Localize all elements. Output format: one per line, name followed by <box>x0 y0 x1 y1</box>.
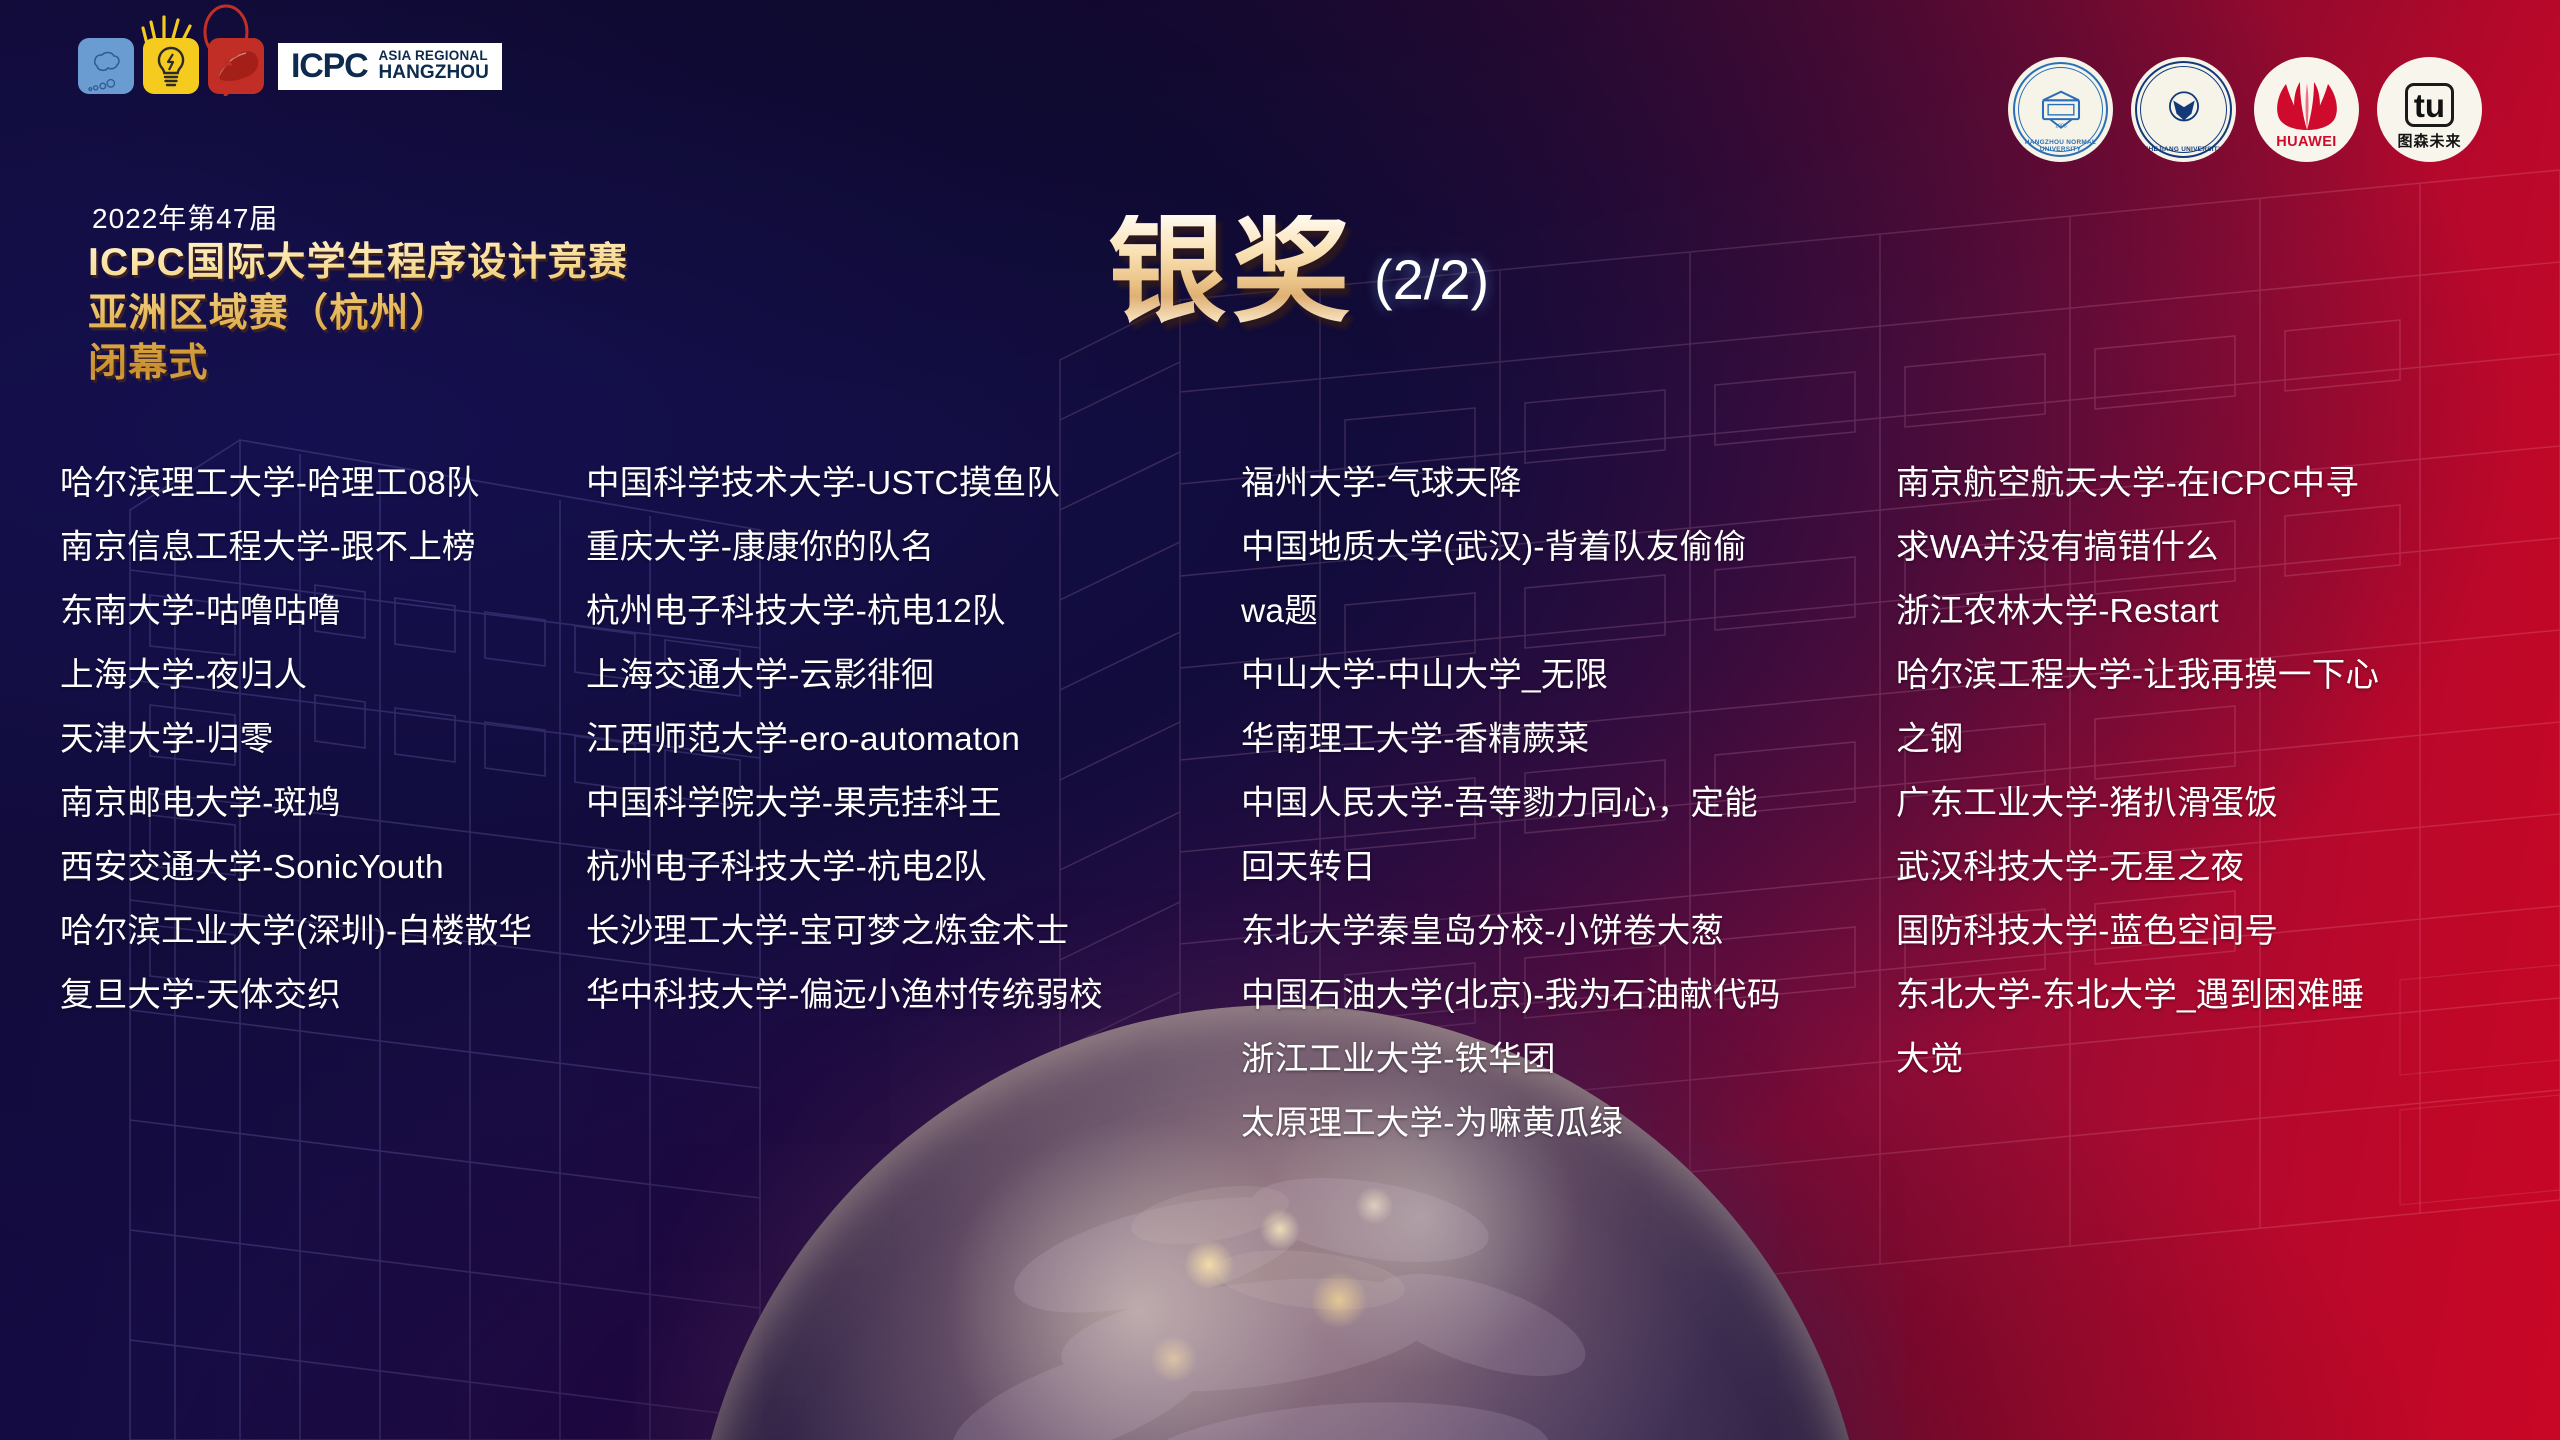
team-entry-wrap: 大觉 <box>1896 1028 2496 1092</box>
team-entry-wrap: 回天转日 <box>1241 836 1896 900</box>
team-entry: 复旦大学-天体交织 <box>60 964 586 1028</box>
icpc-wordmark: ICPC ASIA REGIONAL HANGZHOU <box>278 43 502 90</box>
winners-list: 哈尔滨理工大学-哈理工08队 南京信息工程大学-跟不上榜 东南大学-咕噜咕噜 上… <box>0 452 2560 1156</box>
team-entry: 中山大学-中山大学_无限 <box>1241 644 1896 708</box>
sponsor-huawei-logo: HUAWEI <box>2254 57 2359 162</box>
team-entry: 中国人民大学-吾等勠力同心，定能 <box>1241 772 1896 836</box>
event-title: ICPC国际大学生程序设计竞赛 亚洲区域赛（杭州） 闭幕式 <box>88 238 628 390</box>
logo-tiles <box>78 38 264 94</box>
event-title-line-1: ICPC国际大学生程序设计竞赛 <box>88 238 628 289</box>
team-entry: 华中科技大学-偏远小渔村传统弱校 <box>586 964 1241 1028</box>
icpc-region-line2: HANGZHOU <box>378 63 489 82</box>
thought-cloud-icon <box>86 50 126 78</box>
team-entry: 西安交通大学-SonicYouth <box>60 836 586 900</box>
team-entry: 哈尔滨理工大学-哈理工08队 <box>60 452 586 516</box>
team-entry: 中国地质大学(武汉)-背着队友偷偷 <box>1241 516 1896 580</box>
team-entry: 国防科技大学-蓝色空间号 <box>1896 900 2496 964</box>
sponsor-tusimple-logo: tu 图森未来 <box>2377 57 2482 162</box>
huawei-flower-icon <box>2270 82 2344 130</box>
award-heading: 银奖 (2/2) <box>1108 215 1489 328</box>
team-entry: 上海交通大学-云影徘徊 <box>586 644 1241 708</box>
tusimple-cn-label: 图森未来 <box>2377 130 2482 151</box>
winners-column-3: 福州大学-气球天降 中国地质大学(武汉)-背着队友偷偷 wa题 中山大学-中山大… <box>1241 452 1896 1156</box>
icpc-logo: ICPC ASIA REGIONAL HANGZHOU <box>78 38 502 94</box>
team-entry: 中国石油大学(北京)-我为石油献代码 <box>1241 964 1896 1028</box>
lightbulb-rays-icon <box>141 14 197 48</box>
team-entry: 太原理工大学-为嘛黄瓜绿 <box>1241 1092 1896 1156</box>
winners-column-1: 哈尔滨理工大学-哈理工08队 南京信息工程大学-跟不上榜 东南大学-咕噜咕噜 上… <box>0 452 586 1156</box>
balloon-icon <box>194 4 258 96</box>
icpc-region: ASIA REGIONAL HANGZHOU <box>378 49 489 82</box>
team-entry: 中国科学院大学-果壳挂科王 <box>586 772 1241 836</box>
huawei-label: HUAWEI <box>2254 134 2359 150</box>
icpc-word: ICPC <box>291 49 367 83</box>
team-entry: 杭州电子科技大学-杭电2队 <box>586 836 1241 900</box>
team-entry: 哈尔滨工业大学(深圳)-白楼散华 <box>60 900 586 964</box>
team-entry: 浙江农林大学-Restart <box>1896 580 2496 644</box>
sponsor-hangzhou-normal-university-logo: 1908 HANGZHOU NORMAL UNIVERSITY <box>2008 57 2113 162</box>
team-entry: 上海大学-夜归人 <box>60 644 586 708</box>
team-entry: 东南大学-咕噜咕噜 <box>60 580 586 644</box>
zju-label: ZHEJIANG UNIVERSITY <box>2131 146 2236 153</box>
team-entry: 浙江工业大学-铁华团 <box>1241 1028 1896 1092</box>
award-page-count: (2/2) <box>1374 247 1489 328</box>
team-entry: 中国科学技术大学-USTC摸鱼队 <box>586 452 1241 516</box>
event-title-line-3: 闭幕式 <box>88 339 628 390</box>
thought-dots-icon <box>83 78 119 94</box>
team-entry: 重庆大学-康康你的队名 <box>586 516 1241 580</box>
winners-column-2: 中国科学技术大学-USTC摸鱼队 重庆大学-康康你的队名 杭州电子科技大学-杭电… <box>586 452 1241 1156</box>
event-title-line-2: 亚洲区域赛（杭州） <box>88 289 628 340</box>
team-entry-wrap: 之钢 <box>1896 708 2496 772</box>
team-entry: 南京信息工程大学-跟不上榜 <box>60 516 586 580</box>
team-entry: 长沙理工大学-宝可梦之炼金术士 <box>586 900 1241 964</box>
team-entry: 华南理工大学-香精蕨菜 <box>1241 708 1896 772</box>
team-entry: 广东工业大学-猪扒滑蛋饭 <box>1896 772 2496 836</box>
team-entry: 东北大学秦皇岛分校-小饼卷大葱 <box>1241 900 1896 964</box>
team-entry: 杭州电子科技大学-杭电12队 <box>586 580 1241 644</box>
tusimple-tu-mark: tu <box>2405 83 2454 127</box>
sponsor-zhejiang-university-logo: ZHEJIANG UNIVERSITY <box>2131 57 2236 162</box>
team-entry: 天津大学-归零 <box>60 708 586 772</box>
team-entry-wrap: 求WA并没有搞错什么 <box>1896 516 2496 580</box>
team-entry: 哈尔滨工程大学-让我再摸一下心 <box>1896 644 2496 708</box>
team-entry-wrap: wa题 <box>1241 580 1896 644</box>
award-title: 银奖 <box>1108 215 1356 328</box>
team-entry: 武汉科技大学-无星之夜 <box>1896 836 2496 900</box>
event-year-label: 2022年第47届 <box>92 197 278 237</box>
slide-canvas: ICPC ASIA REGIONAL HANGZHOU 2022年第47届 IC… <box>0 0 2560 1440</box>
hznu-label: HANGZHOU NORMAL UNIVERSITY <box>2008 139 2113 153</box>
team-entry: 福州大学-气球天降 <box>1241 452 1896 516</box>
sponsor-logos: 1908 HANGZHOU NORMAL UNIVERSITY ZHEJIANG… <box>2008 57 2482 162</box>
team-entry: 南京邮电大学-斑鸠 <box>60 772 586 836</box>
team-entry: 江西师范大学-ero-automaton <box>586 708 1241 772</box>
cloud-tile-icon <box>78 38 134 94</box>
winners-column-4: 南京航空航天大学-在ICPC中寻 求WA并没有搞错什么 浙江农林大学-Resta… <box>1896 452 2496 1156</box>
team-entry: 南京航空航天大学-在ICPC中寻 <box>1896 452 2496 516</box>
lightbulb-icon <box>154 45 188 87</box>
icpc-region-line1: ASIA REGIONAL <box>378 49 489 63</box>
team-entry: 东北大学-东北大学_遇到困难睡 <box>1896 964 2496 1028</box>
